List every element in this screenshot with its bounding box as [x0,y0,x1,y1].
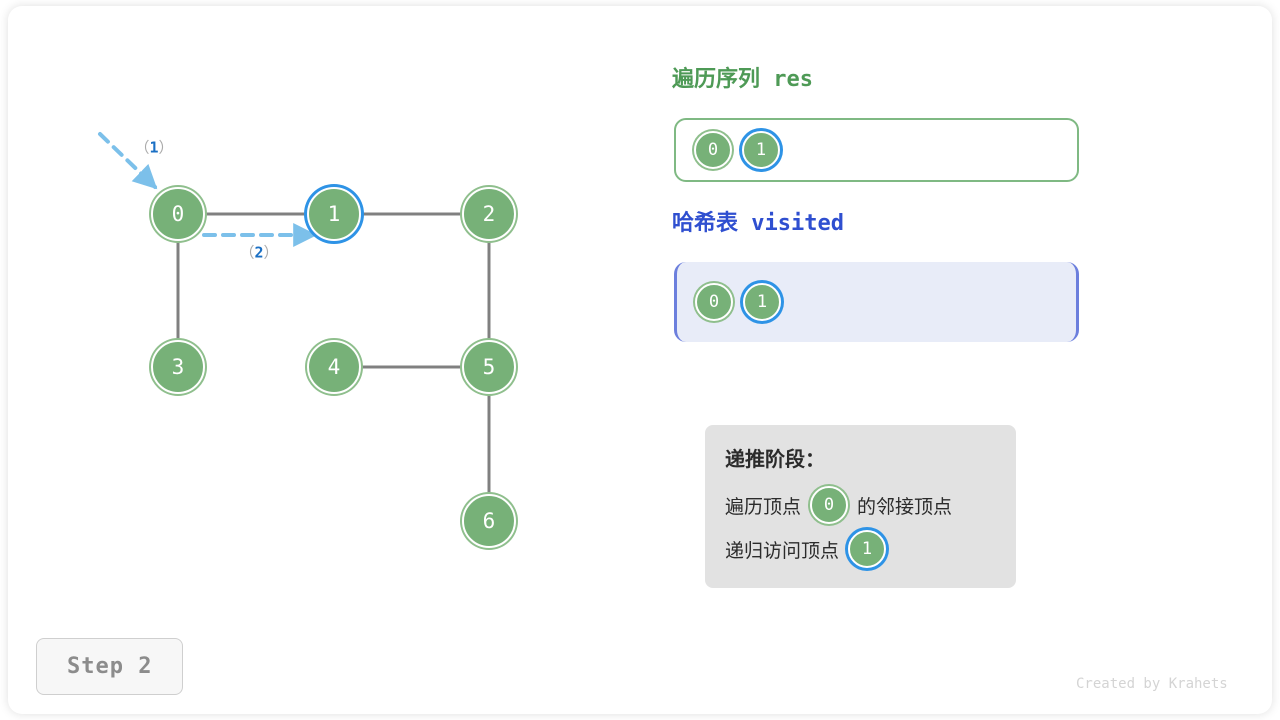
phase-line2-before: 递归访问顶点 [725,536,839,563]
paren-open: （ [239,244,254,262]
res-container: 0 1 [674,118,1079,182]
graph-node-4[interactable]: 4 [307,340,361,394]
visited-chip-1-label: 1 [757,292,767,312]
res-chip-list: 0 1 [694,131,780,169]
phase-line1-chip: 0 [810,486,848,524]
phase-line1-after: 的邻接顶点 [857,492,952,519]
entry-arrow-number: 1 [149,139,158,157]
res-heading: 遍历序列 res [672,61,813,93]
phase-line1-before: 遍历顶点 [725,492,801,519]
graph-node-2[interactable]: 2 [462,187,516,241]
graph-node-0[interactable]: 0 [151,187,205,241]
graph-edges-layer [8,6,628,626]
visited-chip-0-label: 0 [709,292,719,312]
graph-node-6[interactable]: 6 [462,494,516,548]
res-chip-0-label: 0 [708,140,718,160]
visited-chip-1[interactable]: 1 [743,283,781,321]
graph-node-1[interactable]: 1 [307,187,361,241]
res-chip-0[interactable]: 0 [694,131,732,169]
graph-node-4-label: 4 [328,357,341,378]
graph-node-5[interactable]: 5 [462,340,516,394]
slide-stage: 0 1 2 3 4 5 6 （1） （2） [8,6,1272,714]
graph-node-2-label: 2 [483,204,496,225]
graph-node-5-label: 5 [483,357,496,378]
visited-container: 0 1 [674,262,1079,342]
phase-info-title: 递推阶段： [725,443,996,472]
res-chip-1-label: 1 [756,140,766,160]
phase-info-box: 递推阶段： 遍历顶点 0 的邻接顶点 递归访问顶点 1 [705,425,1016,588]
paren-close: ） [159,139,174,157]
visited-heading: 哈希表 visited [672,205,844,237]
graph-node-1-label: 1 [328,204,341,225]
graph-node-3[interactable]: 3 [151,340,205,394]
graph-arrows [100,134,314,235]
phase-line1-chip-label: 0 [824,495,834,515]
entry-arrow-label: （1） [134,137,173,158]
paren-close: ） [264,244,279,262]
visited-chip-list: 0 1 [695,283,781,321]
graph-node-3-label: 3 [172,357,185,378]
phase-info-line-2: 递归访问顶点 1 [725,530,996,568]
credit-text: Created by Krahets [1076,676,1228,692]
slide-card: 0 1 2 3 4 5 6 （1） （2） [8,6,1272,714]
phase-line2-chip: 1 [848,530,886,568]
visited-chip-0[interactable]: 0 [695,283,733,321]
graph-node-6-label: 6 [483,511,496,532]
graph-node-0-label: 0 [172,204,185,225]
step-badge: Step 2 [36,638,183,695]
graph-diagram: 0 1 2 3 4 5 6 （1） （2） [8,6,628,626]
phase-line2-chip-label: 1 [862,539,872,559]
traverse-arrow-label: （2） [239,242,278,263]
paren-open: （ [134,139,149,157]
phase-info-line-1: 遍历顶点 0 的邻接顶点 [725,486,996,524]
res-chip-1[interactable]: 1 [742,131,780,169]
traverse-arrow-number: 2 [254,244,263,262]
